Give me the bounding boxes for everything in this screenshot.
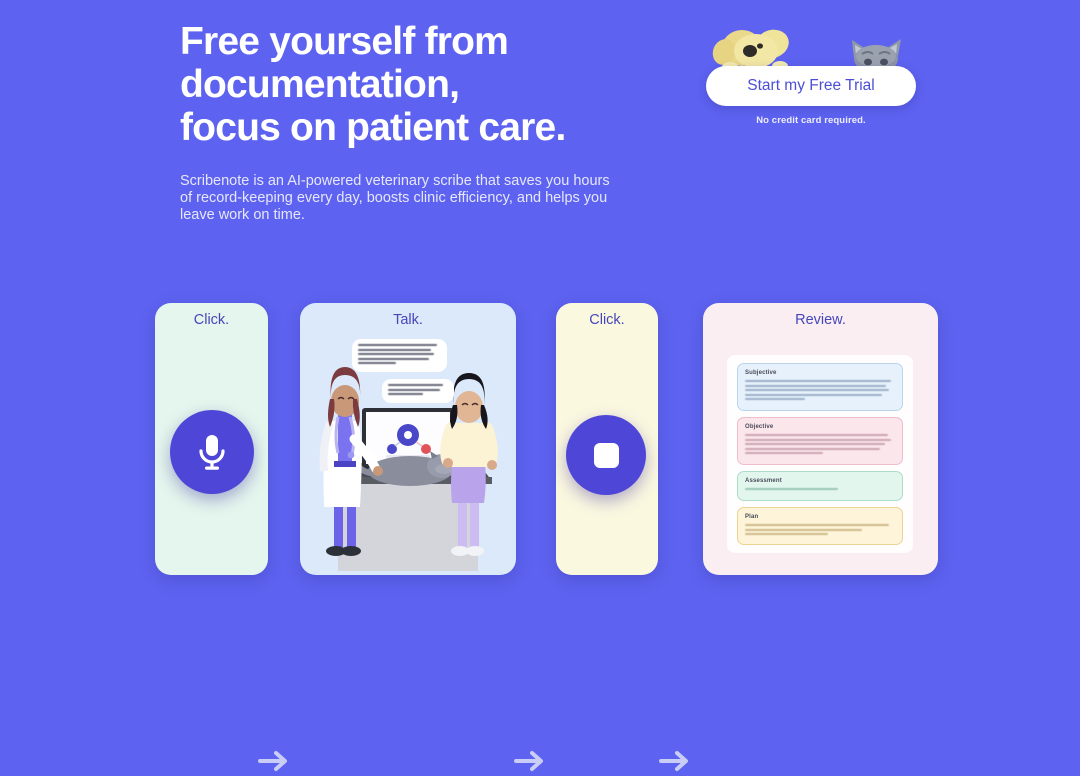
- soap-section-assessment[interactable]: Assessment: [737, 471, 903, 501]
- step-title-click-1: Click.: [155, 312, 268, 328]
- cta-note: No credit card required.: [706, 115, 916, 126]
- soap-text-line: [745, 398, 805, 400]
- soap-text-line: [745, 394, 882, 396]
- soap-text-line: [745, 452, 823, 454]
- page-title: Free yourself from documentation, focus …: [180, 20, 650, 149]
- step-card-review[interactable]: Review. SubjectiveObjectiveAssessmentPla…: [703, 303, 938, 575]
- stop-button[interactable]: [566, 415, 646, 495]
- soap-section-label: Subjective: [745, 370, 895, 376]
- microphone-icon: [195, 432, 229, 472]
- soap-text-line: [745, 533, 828, 535]
- step-card-click-1[interactable]: Click.: [155, 303, 268, 575]
- speech-bubble-vet: [352, 339, 447, 372]
- arrow-right-icon-3: [658, 746, 694, 776]
- arrow-right-icon-1: [257, 746, 293, 776]
- soap-text-line: [745, 529, 862, 531]
- soap-section-objective[interactable]: Objective: [737, 417, 903, 465]
- headline-line-1: Free yourself from: [180, 20, 508, 63]
- record-button[interactable]: [170, 410, 254, 494]
- cta-mascots: [706, 24, 916, 66]
- soap-text-line: [745, 385, 886, 387]
- soap-text-line: [745, 380, 891, 382]
- step-title-review: Review.: [703, 312, 938, 328]
- step-card-click-2[interactable]: Click.: [556, 303, 658, 575]
- step-title-click-2: Click.: [556, 312, 658, 328]
- soap-text-line: [745, 524, 889, 526]
- soap-note-panel: SubjectiveObjectiveAssessmentPlan: [727, 355, 913, 553]
- arrow-right-icon-2: [513, 746, 549, 776]
- soap-section-plan[interactable]: Plan: [737, 507, 903, 545]
- soap-section-label: Plan: [745, 514, 895, 520]
- soap-text-line: [745, 443, 885, 445]
- soap-section-subjective[interactable]: Subjective: [737, 363, 903, 411]
- cta-section: Start my Free Trial No credit card requi…: [706, 24, 916, 126]
- hero-subcopy: Scribenote is an AI-powered veterinary s…: [180, 173, 620, 224]
- soap-text-line: [745, 434, 888, 436]
- headline-line-3: focus on patient care.: [180, 106, 565, 149]
- hero-section: Free yourself from documentation, focus …: [180, 20, 650, 224]
- speech-bubble-client: [382, 379, 454, 403]
- soap-text-line: [745, 389, 889, 391]
- step-card-talk[interactable]: Talk.: [300, 303, 516, 575]
- steps-section: Click. Talk.: [0, 303, 1080, 575]
- headline-line-2: documentation,: [180, 63, 459, 106]
- soap-text-line: [745, 488, 838, 490]
- soap-text-line: [745, 439, 891, 441]
- soap-section-label: Assessment: [745, 478, 895, 484]
- soap-section-label: Objective: [745, 424, 895, 430]
- soap-text-line: [745, 448, 880, 450]
- stop-icon: [594, 443, 619, 468]
- start-free-trial-button[interactable]: Start my Free Trial: [706, 66, 916, 106]
